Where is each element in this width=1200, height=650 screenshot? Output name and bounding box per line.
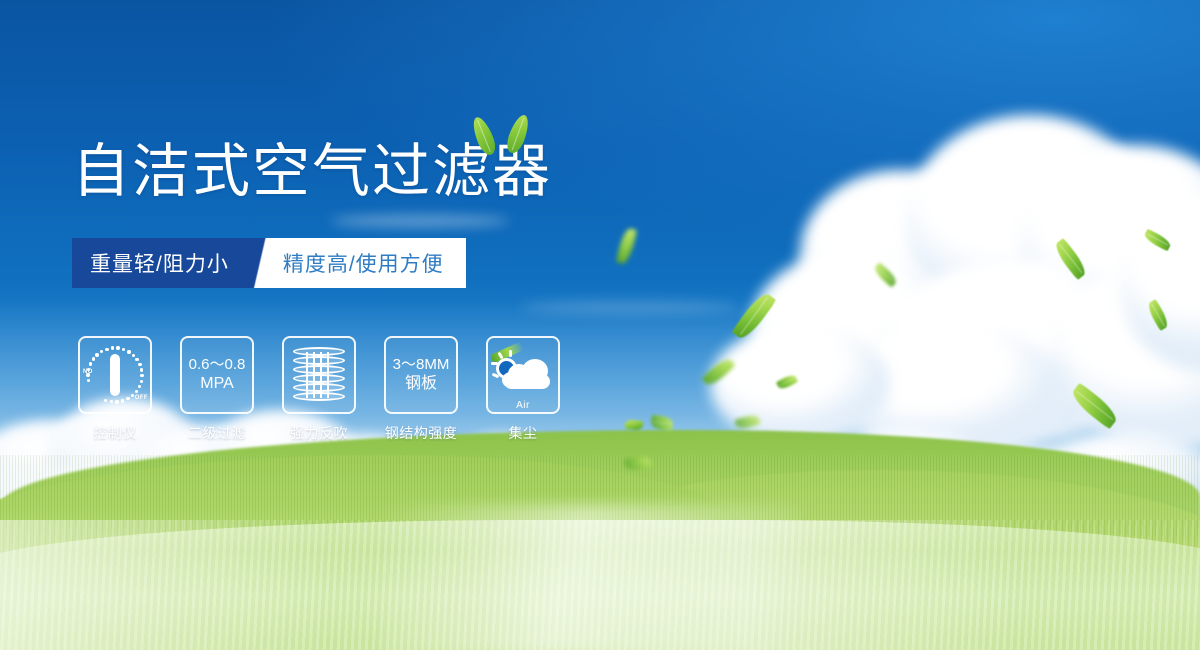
gauge-dot: [126, 397, 129, 400]
feature-icon-box: [282, 336, 356, 414]
plate-line-1: 3〜8MM: [393, 356, 450, 373]
gauge-dot: [132, 354, 135, 357]
gauge-dial-icon: NO OFF: [84, 344, 146, 406]
title-sprout-leaves-icon: [470, 112, 540, 162]
pressure-line-2: MPA: [189, 374, 246, 394]
gauge-dot: [111, 346, 114, 349]
feature-item-strong-backblow[interactable]: 强力反吹: [276, 336, 362, 443]
feature-label: 二级过滤: [188, 423, 246, 443]
tagline-banner: 重量轻/阻力小 精度高/使用方便: [72, 238, 466, 288]
feature-label: 集尘: [509, 423, 538, 443]
gauge-dot: [92, 357, 95, 360]
feature-list: NO OFF 控制仪 0.6〜0.8 MPA 二级过滤: [72, 336, 566, 443]
gauge-dot: [122, 348, 125, 351]
gauge-dot: [104, 399, 107, 402]
feature-item-steel-strength[interactable]: 3〜8MM 钢板 钢结构强度: [378, 336, 464, 443]
product-banner: 自洁式空气过滤器 重量轻/阻力小 精度高/使用方便 NO OFF: [0, 0, 1200, 650]
gauge-label-off: OFF: [135, 395, 148, 401]
gauge-dot: [116, 346, 119, 349]
gauge-dot: [105, 348, 108, 351]
feature-icon-box: NO OFF: [78, 336, 152, 414]
gauge-dot: [140, 380, 143, 383]
gauge-dot: [135, 358, 138, 361]
feature-label: 控制仪: [93, 423, 137, 443]
coil-stack-icon: [293, 347, 345, 403]
plate-line-2: 钢板: [393, 374, 450, 394]
tagline-divider: [249, 238, 275, 288]
feature-item-dust-collection[interactable]: Air 集尘: [480, 336, 566, 443]
feature-icon-box: 3〜8MM 钢板: [384, 336, 458, 414]
feature-label: 钢结构强度: [385, 423, 458, 443]
feature-icon-box: 0.6〜0.8 MPA: [180, 336, 254, 414]
plate-text-icon: 3〜8MM 钢板: [393, 356, 450, 395]
pressure-text-icon: 0.6〜0.8 MPA: [189, 356, 246, 395]
gauge-label-on: NO: [83, 369, 93, 375]
gauge-dot: [138, 385, 141, 388]
air-label: Air: [494, 400, 552, 411]
feature-item-controller[interactable]: NO OFF 控制仪: [72, 336, 158, 443]
tagline-left: 重量轻/阻力小: [72, 238, 249, 288]
gauge-dot: [87, 379, 90, 382]
gauge-dot: [140, 368, 143, 371]
gauge-dot: [135, 390, 138, 393]
feature-item-two-stage-filter[interactable]: 0.6〜0.8 MPA 二级过滤: [174, 336, 260, 443]
gauge-dot: [138, 363, 141, 366]
gauge-dot: [115, 400, 118, 403]
gauge-dot: [127, 350, 130, 353]
gauge-dot: [100, 350, 103, 353]
gauge-needle: [110, 354, 120, 396]
tagline-right: 精度高/使用方便: [275, 238, 466, 288]
gauge-dot: [110, 400, 113, 403]
feature-icon-box: Air: [486, 336, 560, 414]
gauge-dot: [95, 353, 98, 356]
cloud-air-icon: Air: [494, 352, 552, 398]
gauge-dot: [121, 399, 124, 402]
feature-label: 强力反吹: [290, 423, 348, 443]
pressure-line-1: 0.6〜0.8: [189, 356, 246, 373]
gauge-dot: [131, 394, 134, 397]
gauge-dot: [140, 374, 143, 377]
gauge-dot: [89, 362, 92, 365]
